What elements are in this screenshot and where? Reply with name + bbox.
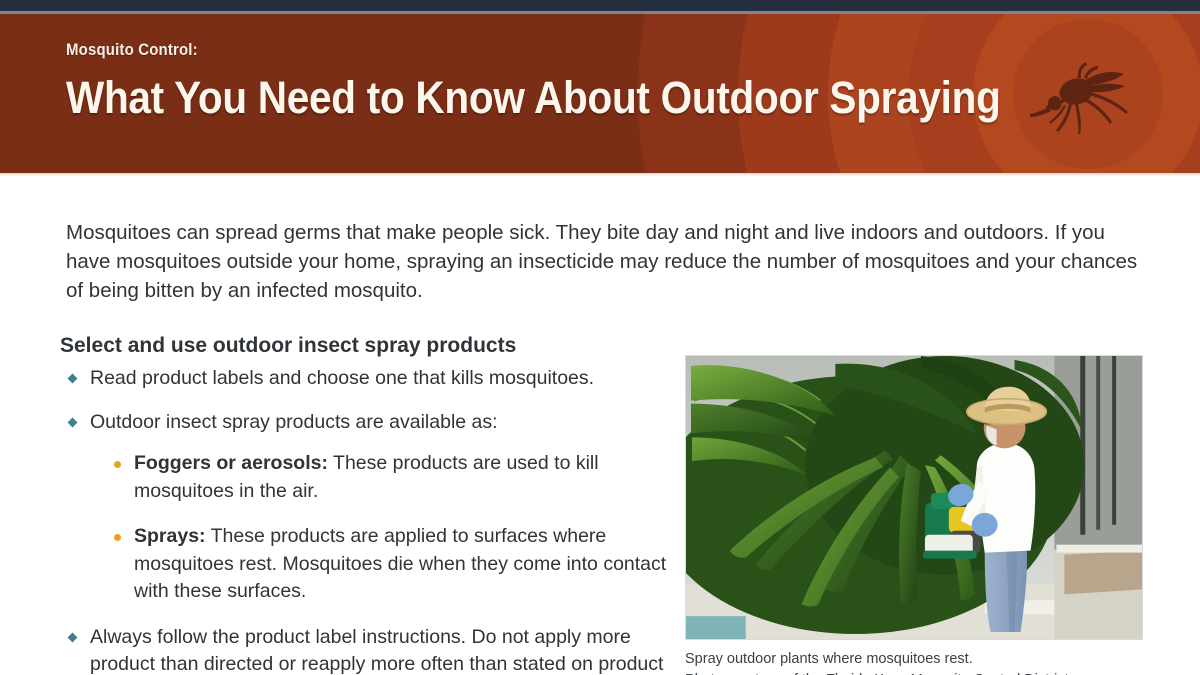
- banner-eyebrow: Mosquito Control:: [66, 40, 980, 60]
- figure-caption: Spray outdoor plants where mosquitoes re…: [685, 649, 1143, 675]
- list-item: Sprays: These products are applied to su…: [112, 523, 700, 606]
- list-item: Outdoor insect spray products are availa…: [60, 409, 700, 606]
- dot-bullet-icon: [114, 534, 121, 541]
- diamond-bullet-icon: [68, 374, 78, 384]
- section-heading: Select and use outdoor insect spray prod…: [60, 333, 516, 359]
- mosquito-icon: [1020, 50, 1156, 146]
- page-title: What You Need to Know About Outdoor Spra…: [66, 73, 1001, 122]
- list-item: Foggers or aerosols: These products are …: [112, 450, 700, 505]
- top-dark-bar: [0, 0, 1200, 14]
- intro-paragraph: Mosquitoes can spread germs that make pe…: [66, 218, 1142, 305]
- photo-credit: Photo courtesy of the Florida Keys Mosqu…: [685, 670, 1143, 675]
- sub-item-text: These products are applied to surfaces w…: [134, 525, 666, 602]
- list-item-text: Always follow the product label instruct…: [90, 626, 663, 675]
- banner-underline: [0, 173, 1200, 176]
- banner-text-block: Mosquito Control: What You Need to Know …: [66, 40, 1104, 122]
- page-banner: Mosquito Control: What You Need to Know …: [0, 14, 1200, 173]
- worker-spraying-plants-photo: [685, 355, 1143, 640]
- list-item-text: Read product labels and choose one that …: [90, 367, 594, 389]
- list-item: Read product labels and choose one that …: [60, 365, 700, 393]
- bullet-list-column: Read product labels and choose one that …: [60, 365, 700, 675]
- diamond-bullet-icon: [68, 632, 78, 642]
- primary-bullet-list: Read product labels and choose one that …: [60, 365, 700, 675]
- secondary-bullet-list: Foggers or aerosols: These products are …: [112, 450, 700, 606]
- dot-bullet-icon: [114, 461, 121, 468]
- list-item: Always follow the product label instruct…: [60, 624, 700, 675]
- sub-item-lead: Foggers or aerosols:: [134, 452, 328, 474]
- caption-text: Spray outdoor plants where mosquitoes re…: [685, 651, 973, 667]
- diamond-bullet-icon: [68, 417, 78, 427]
- sub-item-lead: Sprays:: [134, 525, 206, 547]
- list-item-text: Outdoor insect spray products are availa…: [90, 411, 498, 433]
- infographic-page: Mosquito Control: What You Need to Know …: [0, 0, 1200, 675]
- figure-block: Spray outdoor plants where mosquitoes re…: [685, 355, 1143, 675]
